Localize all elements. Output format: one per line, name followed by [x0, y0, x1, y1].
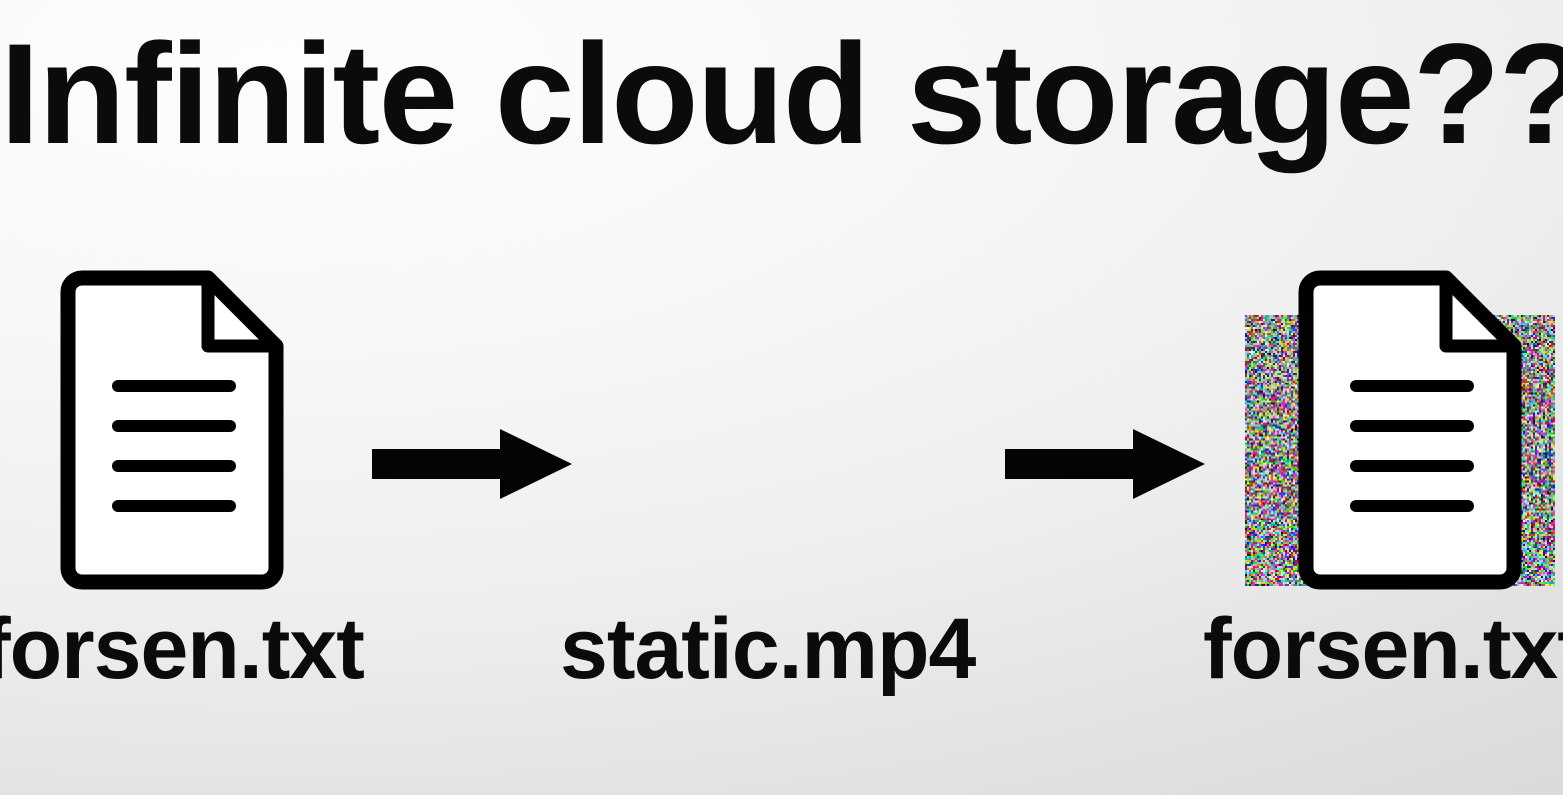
flow-diagram	[0, 262, 1563, 602]
page-title: Infinite cloud storage??	[0, 18, 1563, 172]
flow-labels: forsen.txt static.mp4 forsen.txt	[0, 597, 1563, 707]
flow-node-restored-file[interactable]	[1268, 262, 1548, 602]
flow-node-source-file[interactable]	[30, 262, 310, 602]
label-encoded-video: static.mp4	[560, 597, 1000, 701]
flow-node-encoded-video[interactable]	[620, 262, 940, 602]
document-icon	[1288, 270, 1528, 590]
slide-canvas: Infinite cloud storage??	[0, 0, 1563, 795]
label-source-file: forsen.txt	[0, 597, 402, 701]
document-icon	[50, 270, 290, 590]
arrow-right-icon-encode	[372, 427, 572, 501]
arrow-right-icon-decode	[1005, 427, 1205, 501]
label-restored-file: forsen.txt	[1203, 597, 1563, 701]
